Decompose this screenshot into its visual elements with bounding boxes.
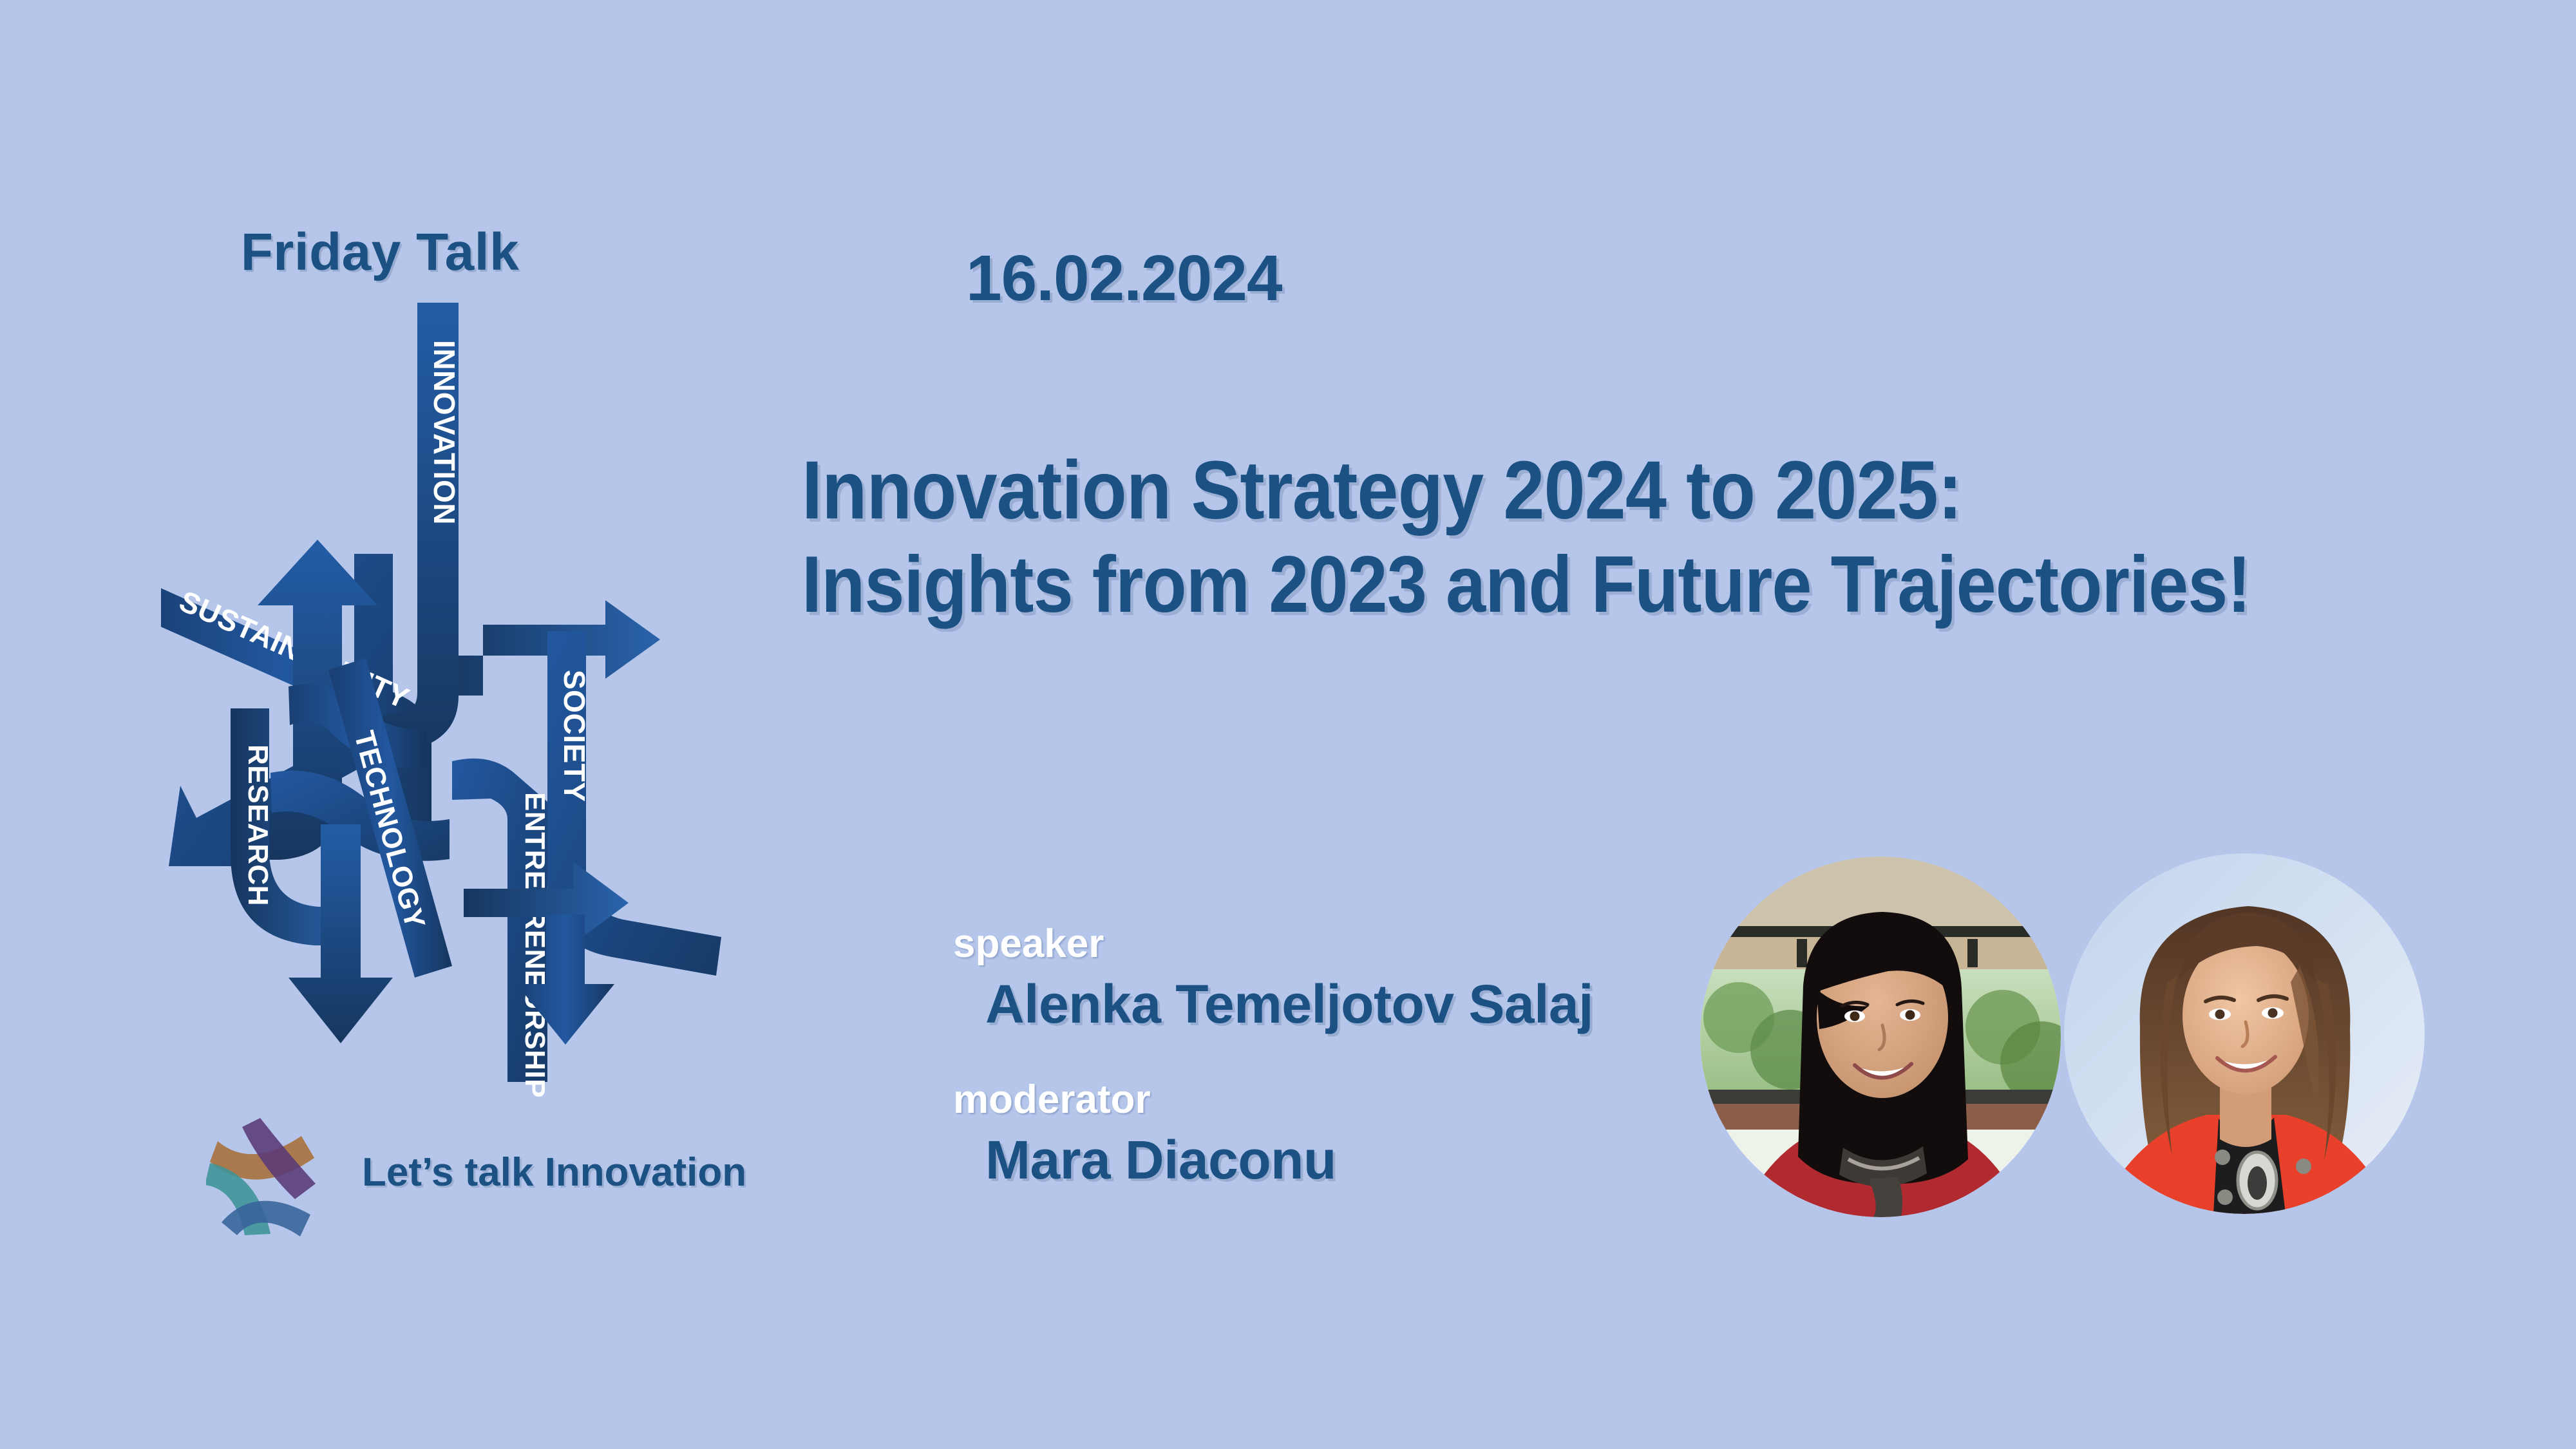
brand-logo-row: Let’s talk Innovation bbox=[206, 1108, 746, 1236]
moderator-role-label: moderator bbox=[953, 1077, 1790, 1122]
speaker-role-label: speaker bbox=[953, 921, 1790, 967]
graphic-label-entrepreneurship: ENTREPRENEURSHIP bbox=[519, 792, 551, 1098]
logo-tagline: Let’s talk Innovation bbox=[362, 1150, 746, 1195]
event-date: 16.02.2024 bbox=[966, 241, 1282, 316]
graphic-label-innovation: INNOVATION bbox=[428, 340, 461, 525]
arrow-ribbon-entrepreneurship: ENTREPRENEURSHIP bbox=[452, 759, 551, 1098]
event-title-block: Innovation Strategy 2024 to 2025: Insigh… bbox=[802, 444, 2450, 630]
title-line-primary: Innovation Strategy 2024 to 2025: bbox=[802, 444, 2286, 536]
people-block: speaker Alenka Temeljotov Salaj moderato… bbox=[953, 921, 1790, 1191]
moderator-name: Mara Diaconu bbox=[985, 1129, 1790, 1191]
speaker-name: Alenka Temeljotov Salaj bbox=[985, 973, 1790, 1036]
title-line-secondary: Insights from 2023 and Future Trajectori… bbox=[802, 540, 2286, 630]
left-graphic-column: Friday Talk bbox=[0, 0, 760, 1449]
series-label: Friday Talk bbox=[0, 222, 760, 283]
graphic-label-society: SOCIETY bbox=[558, 670, 591, 802]
lets-talk-innovation-logo-icon bbox=[206, 1108, 335, 1236]
speaker-avatar bbox=[1700, 857, 2061, 1217]
moderator-avatar bbox=[2064, 853, 2425, 1214]
graphic-label-research: RESEARCH bbox=[242, 744, 274, 906]
tangled-arrows-illustration: SUSTAINABILITY SOCIETY INNOVATION TEC bbox=[161, 283, 728, 1108]
